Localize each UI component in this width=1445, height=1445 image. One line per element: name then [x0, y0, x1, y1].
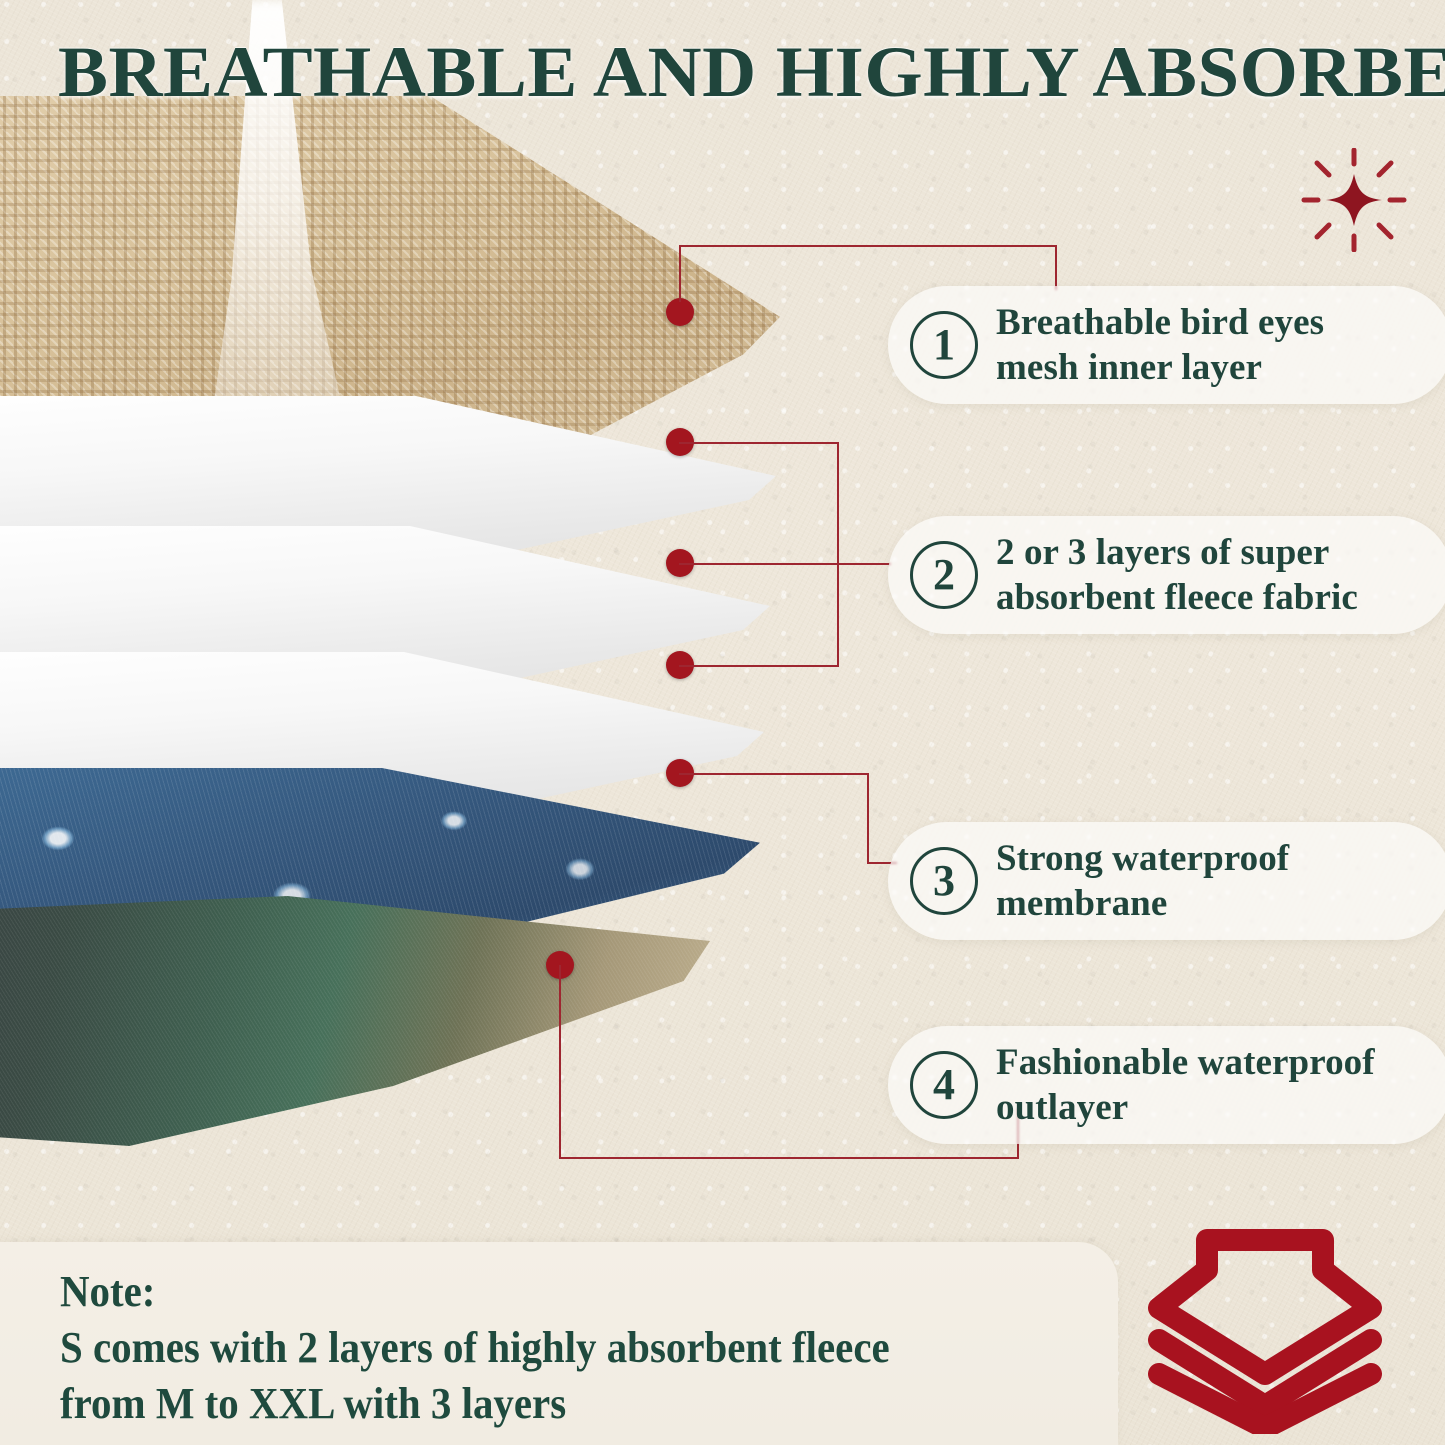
callout-2[interactable]: 2 2 or 3 layers of super absorbent fleec… — [888, 516, 1445, 634]
note-panel: Note: S comes with 2 layers of highly ab… — [0, 1242, 1118, 1445]
callout-3-line1: Strong waterproof — [996, 836, 1289, 881]
connector-line-3-h — [679, 773, 869, 775]
callout-3-text: Strong waterproof membrane — [996, 836, 1289, 926]
callout-4[interactable]: 4 Fashionable waterproof outlayer — [888, 1026, 1445, 1144]
callout-3-number: 3 — [910, 847, 978, 915]
note-heading: Note: — [60, 1264, 1018, 1320]
connector-line-2a — [679, 442, 839, 444]
page-title: BREATHABLE AND HIGHLY ABSORBENT — [58, 34, 1445, 110]
connector-line-4-h — [559, 1157, 1019, 1159]
sparkle-icon — [1300, 148, 1408, 252]
callout-4-number: 4 — [910, 1051, 978, 1119]
connector-line-3-v — [867, 773, 869, 863]
callout-4-line1: Fashionable waterproof — [996, 1040, 1375, 1085]
connector-line-1-h — [679, 245, 1057, 247]
callout-4-line2: outlayer — [996, 1085, 1375, 1130]
note-line1: S comes with 2 layers of highly absorben… — [60, 1320, 1018, 1376]
connector-line-2c — [679, 665, 839, 667]
connector-line-1-v2 — [1055, 245, 1057, 290]
callout-2-text: 2 or 3 layers of super absorbent fleece … — [996, 530, 1358, 620]
note-line2: from M to XXL with 3 layers — [60, 1376, 1018, 1432]
callout-2-number: 2 — [910, 541, 978, 609]
callout-1[interactable]: 1 Breathable bird eyes mesh inner layer — [888, 286, 1445, 404]
callout-2-line1: 2 or 3 layers of super — [996, 530, 1358, 575]
callout-1-line2: mesh inner layer — [996, 345, 1324, 390]
connector-dot-1 — [666, 298, 694, 326]
layers-stack-icon — [1145, 1222, 1385, 1434]
callout-2-line2: absorbent fleece fabric — [996, 575, 1358, 620]
connector-line-4-v — [559, 965, 561, 1159]
callout-4-text: Fashionable waterproof outlayer — [996, 1040, 1375, 1130]
infographic-canvas: BREATHABLE AND HIGHLY ABSORBENT — [0, 0, 1445, 1445]
fabric-layer-illustration — [0, 96, 820, 1106]
callout-1-line1: Breathable bird eyes — [996, 300, 1324, 345]
callout-1-text: Breathable bird eyes mesh inner layer — [996, 300, 1324, 390]
callout-1-number: 1 — [910, 311, 978, 379]
connector-line-1-v — [679, 246, 681, 302]
connector-spine-2 — [837, 442, 839, 666]
note-text: Note: S comes with 2 layers of highly ab… — [60, 1264, 1018, 1432]
connector-line-2b — [679, 563, 891, 565]
callout-3[interactable]: 3 Strong waterproof membrane — [888, 822, 1445, 940]
callout-3-line2: membrane — [996, 881, 1289, 926]
